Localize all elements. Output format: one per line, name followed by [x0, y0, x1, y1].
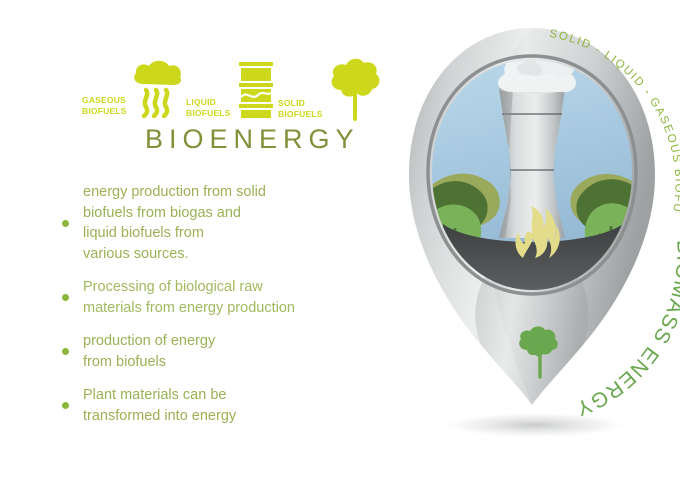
bullet-dot-icon — [62, 402, 69, 409]
cloud-vapor-icon — [130, 60, 184, 118]
fuel-type-liquid-label: LIQUIDBIOFUELS — [186, 97, 231, 120]
fuel-label-line1: LIQUID — [186, 97, 216, 107]
list-item-text: Plant materials can be transformed into … — [83, 385, 236, 426]
fuel-label-line2: BIOFUELS — [82, 106, 127, 116]
biomass-pin-illustration: SOLID - LIQUID - GASEOUS BIOFUELS BIOMAS… — [385, 0, 680, 500]
bullet-list: energy production from solid biofuels fr… — [62, 182, 392, 439]
fuel-label-line2: BIOFUELS — [278, 109, 323, 119]
pin-graphic — [385, 0, 680, 500]
fuel-type-gaseous-label: GASEOUSBIOFUELS — [82, 95, 127, 118]
list-item-text: energy production from solid biofuels fr… — [83, 182, 266, 264]
list-item: Plant materials can be transformed into … — [62, 385, 392, 426]
bullet-dot-icon — [62, 220, 69, 227]
list-item: production of energy from biofuels — [62, 331, 392, 372]
fuel-type-row: GASEOUSBIOFUELS LIQUIDBIOFUELS — [82, 60, 382, 125]
fuel-type-gaseous: GASEOUSBIOFUELS — [82, 60, 184, 118]
list-item: energy production from solid biofuels fr… — [62, 182, 392, 264]
fuel-label-line1: GASEOUS — [82, 95, 126, 105]
list-item-text: production of energy from biofuels — [83, 331, 215, 372]
left-content-panel: GASEOUSBIOFUELS LIQUIDBIOFUELS — [0, 0, 400, 500]
fuel-label-line1: SOLID — [278, 98, 305, 108]
tree-icon — [326, 55, 384, 121]
fuel-type-solid-label: SOLIDBIOFUELS — [278, 98, 323, 121]
pin-drop-shadow — [439, 412, 631, 438]
fuel-type-solid: SOLIDBIOFUELS — [278, 55, 384, 121]
page-title: BIOENERGY — [145, 124, 360, 155]
bullet-dot-icon — [62, 348, 69, 355]
list-item: Processing of biological raw materials f… — [62, 277, 392, 318]
list-item-text: Processing of biological raw materials f… — [83, 277, 295, 318]
bullet-dot-icon — [62, 294, 69, 301]
fuel-label-line2: BIOFUELS — [186, 108, 231, 118]
oil-barrel-icon — [234, 60, 278, 120]
fuel-type-liquid: LIQUIDBIOFUELS — [186, 60, 278, 120]
